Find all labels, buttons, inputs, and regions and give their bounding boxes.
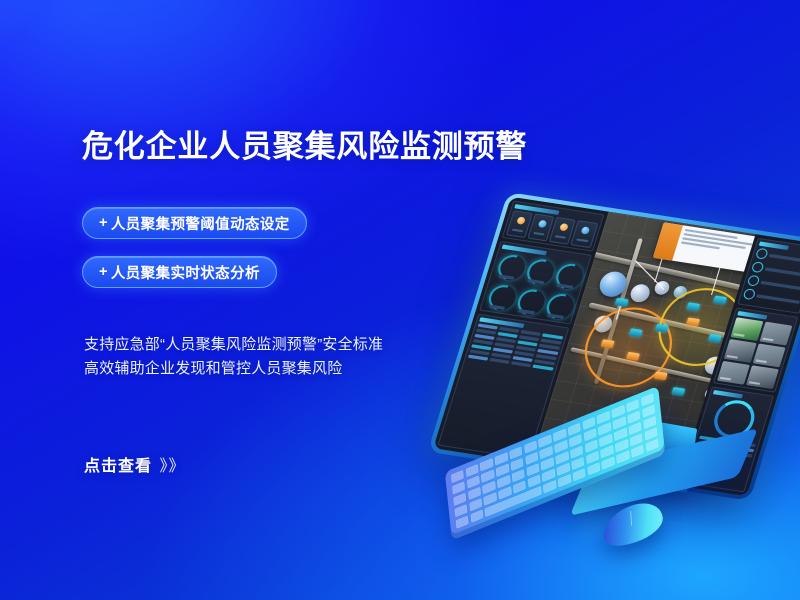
arc-gauge: [493, 251, 527, 282]
person-marker[interactable]: [671, 387, 685, 396]
kpi-card-grid: [506, 210, 598, 248]
camera-grid: [717, 317, 793, 389]
kpi-bar: [533, 232, 545, 236]
arc-gauge: [513, 285, 547, 316]
status-dot-icon: [537, 220, 547, 228]
stat-ring-icon: [755, 248, 769, 260]
double-chevron-right-icon: 》》: [159, 458, 185, 475]
person-marker[interactable]: [628, 328, 642, 337]
glow-bottom-right: [0, 0, 80, 120]
device-mockup: [430, 150, 800, 600]
feature-pill-threshold[interactable]: +人员聚集预警阈值动态设定: [82, 207, 307, 239]
feature-pill-list: +人员聚集预警阈值动态设定 +人员聚集实时状态分析: [82, 207, 307, 305]
feature-pill-realtime[interactable]: +人员聚集实时状态分析: [82, 256, 277, 288]
stat-ring-icon: [746, 275, 760, 287]
stat-ring-icon: [750, 261, 764, 273]
panel-gauges: [479, 241, 591, 324]
person-marker[interactable]: [707, 334, 721, 343]
arc-gauge: [522, 255, 556, 286]
feature-pill-label: 人员聚集实时状态分析: [111, 262, 260, 283]
person-marker-alert[interactable]: [685, 317, 699, 326]
view-more-label: 点击查看: [84, 458, 152, 475]
panel-title-bar: [713, 390, 743, 399]
camera-tile[interactable]: [759, 322, 792, 346]
person-marker[interactable]: [686, 302, 700, 311]
promo-banner: 危化企业人员聚集风险监测预警 +人员聚集预警阈值动态设定 +人员聚集实时状态分析…: [0, 0, 800, 600]
camera-tile[interactable]: [730, 317, 763, 341]
person-marker[interactable]: [654, 323, 668, 332]
arc-gauge: [542, 290, 576, 321]
floor-glow: [0, 0, 8, 40]
plus-icon: +: [99, 215, 108, 231]
person-marker[interactable]: [712, 295, 726, 304]
stat-ring-icon: [742, 288, 756, 300]
kpi-bar: [555, 235, 567, 239]
person-marker-alert[interactable]: [625, 352, 639, 361]
camera-tile[interactable]: [724, 339, 757, 363]
camera-tile[interactable]: [746, 365, 779, 389]
person-marker-alert[interactable]: [653, 371, 667, 380]
arc-gauge: [483, 281, 517, 312]
camera-tile[interactable]: [717, 361, 750, 385]
person-marker[interactable]: [614, 298, 628, 307]
description-text: 支持应急部“人员聚集风险监测预警”安全标准 高效辅助企业发现和管控人员聚集风险: [84, 333, 383, 382]
arc-gauge: [551, 260, 585, 291]
view-more-link[interactable]: 点击查看 》》: [84, 452, 185, 476]
person-marker-alert[interactable]: [600, 339, 614, 348]
data-table: [468, 323, 563, 370]
status-dot-icon: [516, 216, 526, 224]
status-dot-icon: [580, 226, 590, 234]
description-line-1: 支持应急部“人员聚集风险监测预警”安全标准: [84, 333, 383, 357]
gauge-grid: [483, 251, 585, 321]
kpi-card[interactable]: [571, 220, 598, 248]
kpi-bar: [512, 229, 524, 233]
feature-pill-label: 人员聚集预警阈值动态设定: [111, 213, 290, 234]
plus-icon: +: [99, 264, 108, 280]
description-line-2: 高效辅助企业发现和管控人员聚集风险: [84, 357, 383, 381]
camera-tile[interactable]: [753, 343, 786, 367]
kpi-bar: [577, 238, 589, 242]
status-dot-icon: [559, 223, 569, 231]
